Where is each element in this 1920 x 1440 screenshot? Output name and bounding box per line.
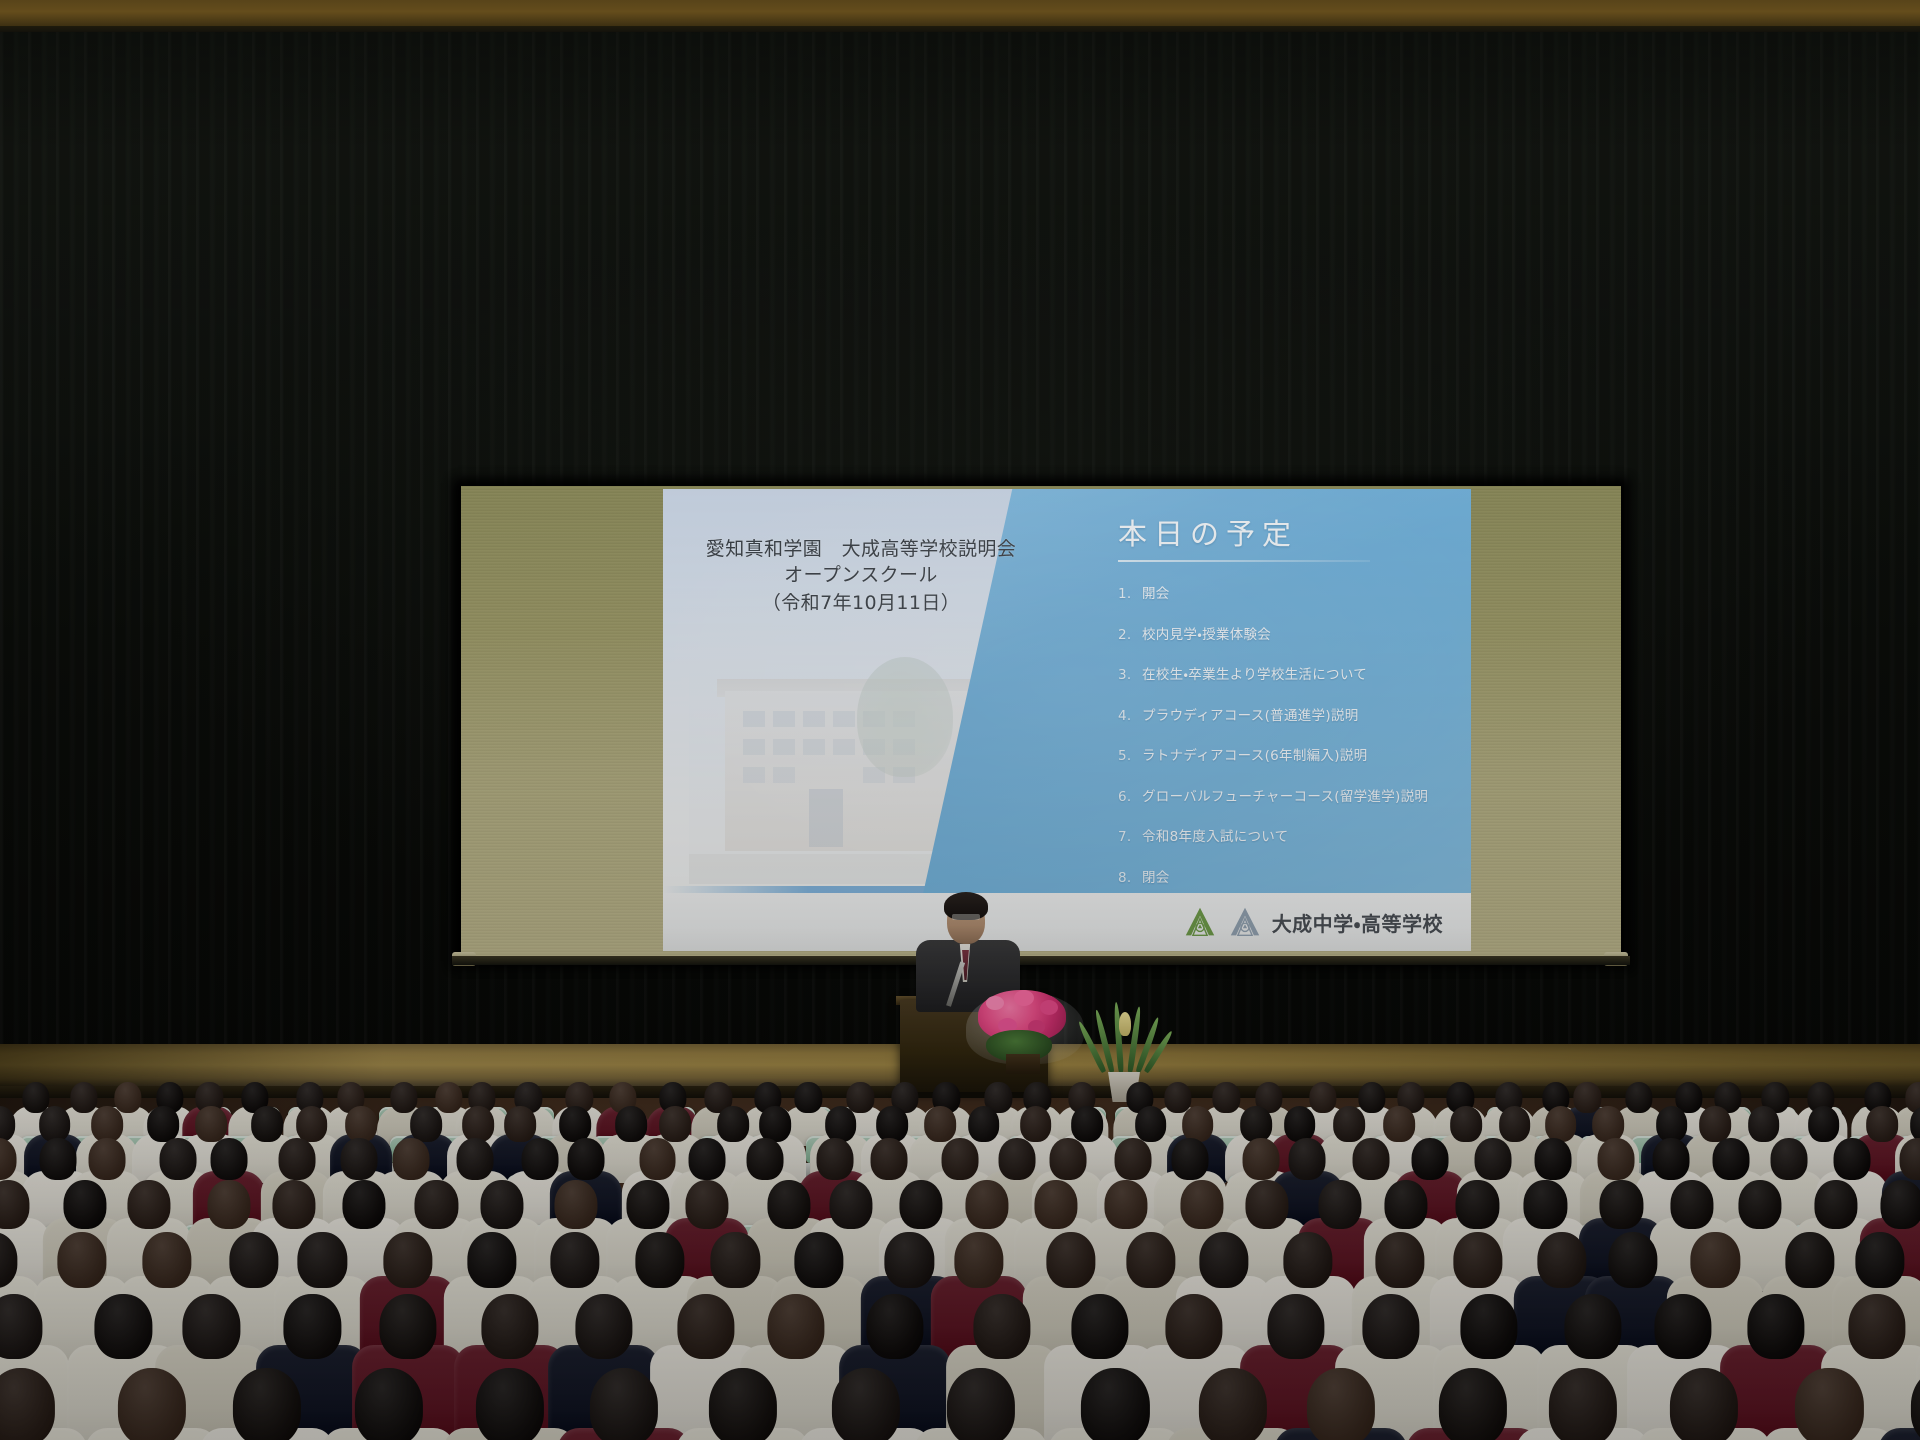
audience-member (322, 1368, 455, 1440)
audience-member-head (1713, 1138, 1750, 1180)
agenda-item-text: 閉会 (1142, 866, 1170, 886)
audience-member-head (1383, 1106, 1415, 1142)
audience-member-head (476, 1368, 544, 1440)
audience-member-head (1699, 1106, 1731, 1142)
audience-member-head (504, 1106, 536, 1142)
audience-member-head (1597, 1138, 1634, 1180)
audience-member-head (355, 1368, 423, 1440)
audience-member-head (1880, 1180, 1920, 1229)
audience-member-head (1199, 1368, 1267, 1440)
audience-member-head (1450, 1106, 1482, 1142)
audience-member-head (39, 1106, 71, 1142)
audience-member-head (1866, 1106, 1898, 1142)
audience-member-head (393, 1138, 430, 1180)
audience-member-head (590, 1368, 658, 1440)
agenda-item-number: 5. (1118, 748, 1133, 764)
audience-member-head (1738, 1180, 1781, 1229)
audience-member-head (615, 1106, 647, 1142)
audience-member-head (1770, 1138, 1807, 1180)
audience-seating (0, 1080, 1920, 1440)
audience-member-head (1670, 1368, 1738, 1440)
audience-member-head (925, 1106, 957, 1142)
audience-member-head (999, 1138, 1036, 1180)
audience-member-head (1284, 1106, 1316, 1142)
audience-member-head (1289, 1138, 1326, 1180)
audience-member-head (1182, 1106, 1214, 1142)
audience-member-head (1126, 1232, 1175, 1288)
agenda-underline (1118, 560, 1370, 562)
agenda-item-text: ラトナディアコース(6年制編入)説明 (1142, 744, 1367, 764)
audience-member-head (1035, 1180, 1078, 1229)
audience-member-head (410, 1106, 442, 1142)
audience-member-head (1456, 1180, 1499, 1229)
audience-member-head (567, 1138, 604, 1180)
audience-member-head (279, 1138, 316, 1180)
audience-member-head (482, 1294, 539, 1359)
audience-member-head (941, 1138, 978, 1180)
agenda-item: 6.グローバルフューチャーコース(留学進学)説明 (1118, 785, 1463, 805)
audience-member-head (760, 1106, 792, 1142)
slide-title-line1: 愛知真和学園 大成高等学校説明会 (671, 537, 1051, 562)
audience-member-head (1653, 1138, 1690, 1180)
audience-member-head (88, 1138, 125, 1180)
agenda-item-number: 3. (1118, 667, 1133, 683)
slide-agenda: 本日の予定 1.開会2.校内見学・授業体験会3.在校生・卒業生より学校生活につい… (1118, 511, 1463, 906)
audience-member-head (575, 1294, 632, 1359)
audience-member-head (1785, 1232, 1834, 1288)
audience-member-head (968, 1106, 1000, 1142)
slide-title-line2: オープンスクール (671, 562, 1051, 590)
audience-member-head (794, 1232, 843, 1288)
audience-member-head (1135, 1106, 1167, 1142)
audience-member-head (885, 1232, 934, 1288)
audience-member-head (345, 1106, 377, 1142)
audience-member-head (467, 1232, 516, 1288)
audience-member-head (183, 1294, 240, 1359)
mountain-arch-logo-green-icon (1182, 906, 1218, 938)
audience-member-head (1461, 1294, 1518, 1359)
audience-member-head (208, 1180, 251, 1229)
slide-title-line3: （令和7年10月11日） (671, 590, 1051, 618)
agenda-item-number: 4. (1118, 708, 1133, 724)
mountain-arch-logo-gray-icon (1227, 906, 1263, 938)
audience-member-head (1284, 1232, 1333, 1288)
audience-member-head (1362, 1294, 1419, 1359)
audience-member (914, 1368, 1047, 1440)
audience-member-head (1375, 1232, 1424, 1288)
audience-member-head (708, 1368, 776, 1440)
audience-member-head (1670, 1180, 1713, 1229)
audience-member-head (554, 1180, 597, 1229)
audience-member-head (1833, 1138, 1870, 1180)
audience-member (0, 1368, 88, 1440)
audience-member-head (63, 1180, 106, 1229)
audience-member-head (1565, 1294, 1622, 1359)
audience-member-head (1180, 1180, 1223, 1229)
audience-member-head (1855, 1232, 1904, 1288)
audience-member-head (551, 1232, 600, 1288)
audience-member-head (1050, 1138, 1087, 1180)
audience-member-head (1474, 1138, 1511, 1180)
audience-member-head (1691, 1232, 1740, 1288)
audience-member-head (866, 1294, 923, 1359)
audience-member-head (767, 1294, 824, 1359)
audience-member-head (711, 1232, 760, 1288)
audience-member-head (817, 1138, 854, 1180)
audience-member-head (58, 1232, 107, 1288)
audience-member (85, 1368, 218, 1440)
audience-member (201, 1368, 334, 1440)
audience-member-head (341, 1138, 378, 1180)
audience-member-head (626, 1180, 669, 1229)
audience-member-head (1439, 1368, 1507, 1440)
audience-member-head (1046, 1232, 1095, 1288)
audience-member-head (899, 1180, 942, 1229)
audience-member-head (1549, 1368, 1617, 1440)
plant-flower-spike (1119, 1012, 1131, 1036)
audience-member-head (383, 1232, 432, 1288)
audience-member-head (379, 1294, 436, 1359)
agenda-item-text: 開会 (1142, 582, 1170, 602)
audience-member-head (1081, 1368, 1149, 1440)
agenda-item-text: 令和8年度入試について (1142, 825, 1288, 845)
audience-member-head (298, 1232, 347, 1288)
agenda-item-number: 8. (1118, 870, 1133, 886)
audience-member-head (747, 1138, 784, 1180)
audience-member-head (233, 1368, 301, 1440)
audience-member-head (127, 1180, 170, 1229)
audience-member-head (870, 1138, 907, 1180)
screen-bottom-bar (452, 956, 1630, 965)
auditorium-scene: 愛知真和学園 大成高等学校説明会 オープンスクール （令和7年10月11日） 本… (0, 0, 1920, 1440)
audience-member-head (1654, 1294, 1711, 1359)
audience-member-head (659, 1106, 691, 1142)
audience-member-head (1795, 1368, 1863, 1440)
audience-member-head (1537, 1232, 1586, 1288)
agenda-item: 1.開会 (1118, 582, 1463, 602)
audience-member-head (91, 1106, 123, 1142)
flower-arrangement (962, 984, 1088, 1070)
audience-member-head (1240, 1106, 1272, 1142)
audience-member-head (829, 1180, 872, 1229)
audience-member-head (767, 1180, 810, 1229)
audience-member-head (1384, 1180, 1427, 1229)
audience-member-head (1815, 1180, 1858, 1229)
audience-member-head (1307, 1368, 1375, 1440)
audience-member-head (118, 1368, 186, 1440)
audience-member-head (296, 1106, 328, 1142)
audience-member-head (1608, 1232, 1657, 1288)
presenter-glasses-icon (952, 914, 980, 920)
agenda-item: 5.ラトナディアコース(6年制編入)説明 (1118, 744, 1463, 764)
audience-member-head (1748, 1106, 1780, 1142)
audience-member-head (946, 1368, 1014, 1440)
slide-footer-bar: 大成中学・高等学校 (663, 893, 1471, 951)
agenda-item: 2.校内見学・授業体験会 (1118, 623, 1463, 643)
audience-member-head (1199, 1232, 1248, 1288)
audience-member-head (142, 1232, 191, 1288)
agenda-heading: 本日の予定 (1118, 511, 1463, 553)
audience-member-head (965, 1180, 1008, 1229)
audience-member-head (973, 1294, 1030, 1359)
audience-member-head (1592, 1106, 1624, 1142)
audience-member-head (832, 1368, 900, 1440)
agenda-item-text: 在校生・卒業生より学校生活について (1142, 663, 1367, 683)
audience-member-head (1412, 1138, 1449, 1180)
agenda-item: 3.在校生・卒業生より学校生活について (1118, 663, 1463, 683)
audience-member-head (1071, 1294, 1128, 1359)
audience-member-head (876, 1106, 908, 1142)
audience-member-head (1020, 1106, 1052, 1142)
audience-member-head (1900, 1138, 1920, 1180)
audience-member-head (559, 1106, 591, 1142)
audience-member (676, 1368, 809, 1440)
audience-member-head (825, 1106, 857, 1142)
audience-member-head (1535, 1138, 1572, 1180)
audience-member-head (0, 1180, 30, 1229)
audience-member (1274, 1368, 1407, 1440)
audience-member-head (1172, 1138, 1209, 1180)
audience-member (1638, 1368, 1771, 1440)
audience-member-head (1545, 1106, 1577, 1142)
agenda-item-number: 2. (1118, 627, 1133, 643)
audience-member-head (1245, 1180, 1288, 1229)
agenda-item-text: プラウディアコース(普通進学)説明 (1142, 704, 1359, 724)
audience-member (1763, 1368, 1896, 1440)
audience-member-head (284, 1294, 341, 1359)
audience-member-head (1808, 1106, 1840, 1142)
audience-member-head (1071, 1106, 1103, 1142)
agenda-item: 8.閉会 (1118, 866, 1463, 886)
audience-member-head (159, 1138, 196, 1180)
agenda-item-number: 1. (1118, 586, 1133, 602)
audience-member-head (1453, 1232, 1502, 1288)
audience-member-head (251, 1106, 283, 1142)
audience-member-head (1115, 1138, 1152, 1180)
audience-member-head (1499, 1106, 1531, 1142)
audience-member-head (147, 1106, 179, 1142)
audience-member-head (1748, 1294, 1805, 1359)
audience-member-head (954, 1232, 1003, 1288)
audience-member (799, 1368, 932, 1440)
agenda-item: 7.令和8年度入試について (1118, 825, 1463, 845)
audience-member-head (415, 1180, 458, 1229)
audience-member-head (0, 1368, 55, 1440)
agenda-item-number: 7. (1118, 829, 1133, 845)
agenda-item-list: 1.開会2.校内見学・授業体験会3.在校生・卒業生より学校生活について4.プラウ… (1118, 582, 1463, 886)
audience-member-head (1333, 1106, 1365, 1142)
projected-slide: 愛知真和学園 大成高等学校説明会 オープンスクール （令和7年10月11日） 本… (663, 489, 1471, 951)
stage-valance (0, 0, 1920, 26)
audience-member-head (95, 1294, 152, 1359)
audience-member-head (688, 1138, 725, 1180)
audience-member (443, 1368, 576, 1440)
agenda-item: 4.プラウディアコース(普通進学)説明 (1118, 704, 1463, 724)
audience-member-head (1353, 1138, 1390, 1180)
audience-member-head (678, 1294, 735, 1359)
footer-school-name: 大成中学・高等学校 (1272, 908, 1443, 937)
audience-member (1879, 1368, 1920, 1440)
audience-member-head (685, 1180, 728, 1229)
audience-member (1516, 1368, 1649, 1440)
audience-member-head (1319, 1180, 1362, 1229)
audience-member-head (480, 1180, 523, 1229)
audience-member-head (342, 1180, 385, 1229)
audience-member (557, 1368, 690, 1440)
audience-member-head (635, 1232, 684, 1288)
audience-member-head (1268, 1294, 1325, 1359)
audience-member (1049, 1368, 1182, 1440)
audience-member-head (457, 1138, 494, 1180)
slide-title-block: 愛知真和学園 大成高等学校説明会 オープンスクール （令和7年10月11日） (671, 537, 1051, 618)
audience-member-head (1165, 1294, 1222, 1359)
agenda-item-number: 6. (1118, 789, 1133, 805)
audience-member-head (229, 1232, 278, 1288)
audience-member-head (1524, 1180, 1567, 1229)
audience-member-head (1848, 1294, 1905, 1359)
agenda-item-text: 校内見学・授業体験会 (1142, 623, 1271, 643)
audience-member-head (210, 1138, 247, 1180)
agenda-item-text: グローバルフューチャーコース(留学進学)説明 (1142, 785, 1428, 805)
audience-member-head (1105, 1180, 1148, 1229)
audience-member-torso (1879, 1428, 1920, 1440)
audience-member-head (1600, 1180, 1643, 1229)
audience-member-head (1656, 1106, 1688, 1142)
flower-base (1006, 1054, 1040, 1074)
audience-member-head (0, 1294, 42, 1359)
audience-member-head (272, 1180, 315, 1229)
audience-member-head (195, 1106, 227, 1142)
